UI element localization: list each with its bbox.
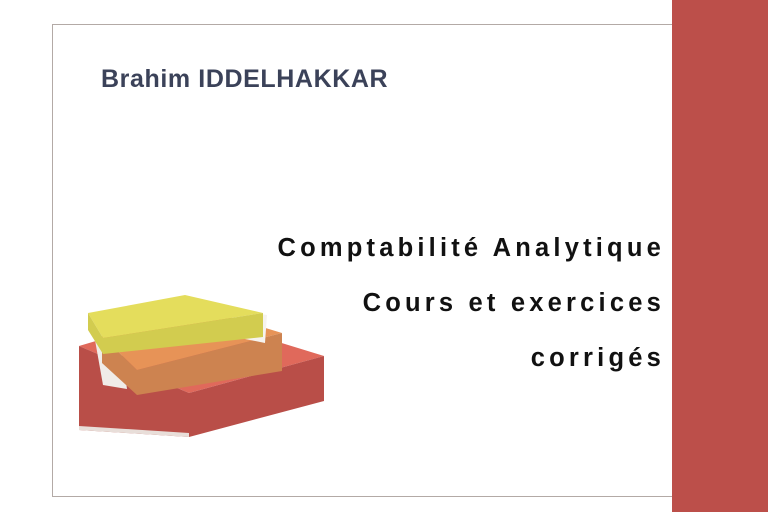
author-name: Brahim IDDELHAKKAR (101, 65, 388, 94)
accent-band (672, 0, 768, 512)
stacked-books-illustration (67, 293, 357, 458)
cover-card: Brahim IDDELHAKKAR Comptabilité Analytiq… (52, 24, 672, 497)
stacked-books-svg (67, 293, 357, 458)
book-cover-canvas: Brahim IDDELHAKKAR Comptabilité Analytiq… (0, 0, 768, 512)
title-line-1: Comptabilité Analytique (105, 221, 665, 276)
